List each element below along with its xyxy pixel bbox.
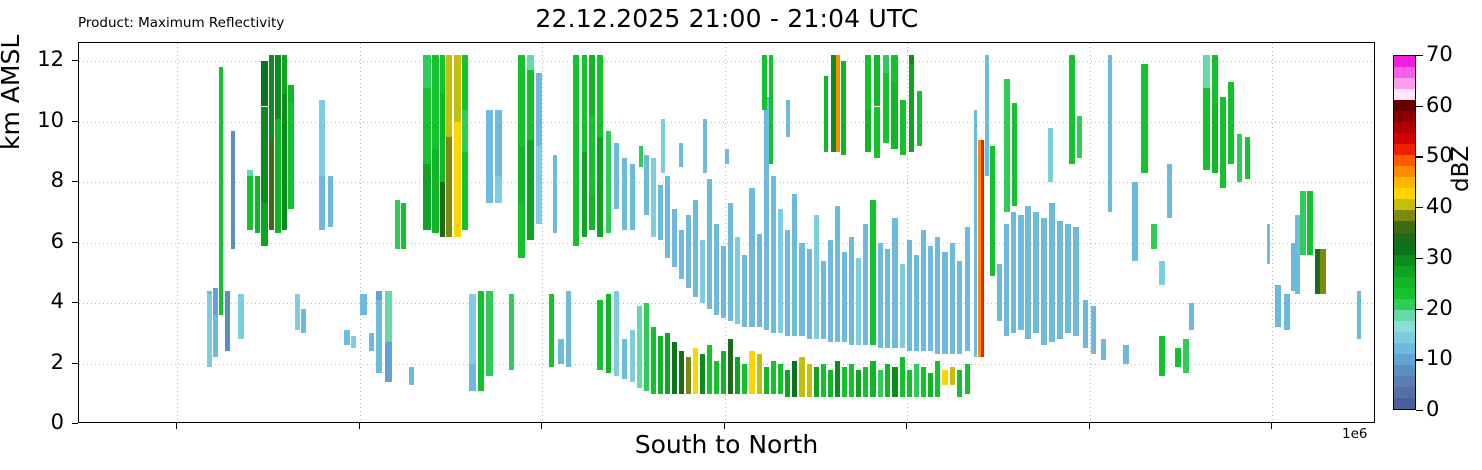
- data-bar: [376, 291, 382, 300]
- data-bar: [238, 294, 244, 339]
- data-bar: [725, 149, 729, 164]
- data-bar: [319, 176, 325, 230]
- data-bar: [679, 351, 684, 393]
- data-bar: [269, 140, 274, 231]
- data-bar: [275, 119, 281, 234]
- data-bar: [255, 176, 260, 233]
- data-bar: [589, 194, 595, 230]
- data-bar: [658, 185, 663, 239]
- data-bar: [295, 294, 300, 330]
- x-axis-tick: [176, 423, 177, 429]
- data-bar: [849, 364, 854, 397]
- colorbar-title: dBZ: [1448, 146, 1474, 192]
- data-bar: [965, 364, 970, 394]
- data-bar: [275, 55, 281, 119]
- data-bar: [942, 370, 948, 385]
- data-bar: [385, 291, 392, 342]
- colorbar-segment: [1394, 398, 1415, 409]
- data-bar: [630, 330, 635, 381]
- data-bar: [900, 264, 905, 349]
- colorbar-segment: [1394, 100, 1415, 111]
- data-bar: [1275, 285, 1281, 327]
- data-bar: [891, 55, 898, 82]
- colorbar-tick-label: 20: [1426, 298, 1453, 319]
- data-bar: [907, 240, 912, 352]
- colorbar-segment: [1394, 188, 1415, 199]
- data-bar: [395, 200, 400, 248]
- data-bar: [1033, 212, 1039, 333]
- data-bar: [821, 364, 826, 397]
- data-bar: [1069, 55, 1075, 164]
- data-bar: [247, 170, 253, 176]
- colorbar-tick: [1416, 359, 1423, 360]
- data-bar: [288, 103, 294, 209]
- gridline-horizontal: [79, 243, 1374, 244]
- data-bar: [950, 243, 955, 355]
- data-bar: [807, 364, 812, 397]
- data-bar: [553, 155, 557, 234]
- data-bar: [1175, 348, 1181, 366]
- data-bar: [957, 261, 962, 355]
- data-bar: [892, 367, 898, 397]
- data-bar: [714, 224, 719, 315]
- y-axis-tick-label: 0: [30, 412, 64, 433]
- data-bar: [454, 55, 461, 122]
- colorbar-segment: [1394, 67, 1415, 78]
- data-bar: [828, 370, 833, 397]
- data-bar: [828, 240, 833, 343]
- data-bar: [462, 152, 468, 231]
- data-bar: [824, 76, 828, 152]
- colorbar-segment: [1394, 320, 1415, 331]
- data-bar: [1212, 103, 1218, 173]
- data-bar: [606, 131, 611, 234]
- x-axis-tick: [1089, 423, 1090, 429]
- data-bar: [261, 107, 268, 204]
- data-bar: [785, 230, 790, 336]
- colorbar-segment: [1394, 309, 1415, 320]
- data-bar: [835, 361, 840, 397]
- data-bar: [509, 294, 514, 370]
- data-bar: [630, 164, 635, 231]
- radar-cross-section-figure: Product: Maximum Reflectivity 22.12.2025…: [0, 0, 1482, 470]
- data-bar: [786, 100, 790, 136]
- colorbar-segment: [1394, 155, 1415, 166]
- data-bar: [454, 122, 461, 237]
- x-axis-tick: [1271, 423, 1272, 429]
- data-bar: [495, 110, 502, 177]
- data-bar: [644, 303, 649, 391]
- data-bar: [735, 237, 740, 325]
- y-axis-title: km AMSL: [0, 35, 25, 150]
- data-bar: [328, 176, 333, 227]
- data-bar: [637, 306, 642, 388]
- data-bar: [486, 173, 493, 203]
- data-bar: [1300, 191, 1306, 255]
- y-axis-tick: [72, 121, 78, 122]
- data-bar: [990, 146, 995, 276]
- data-bar: [856, 258, 861, 346]
- colorbar-segment: [1394, 144, 1415, 155]
- data-bar: [742, 255, 747, 328]
- data-bar: [764, 367, 769, 394]
- data-bar: [928, 246, 933, 352]
- data-bar: [757, 354, 762, 393]
- data-bar: [247, 176, 253, 230]
- data-bar: [1307, 191, 1313, 255]
- data-bar: [462, 110, 468, 152]
- data-bar: [849, 237, 854, 346]
- data-bar: [478, 291, 484, 391]
- data-bar: [440, 182, 445, 236]
- data-bar: [1237, 134, 1242, 182]
- gridline-horizontal: [79, 303, 1374, 304]
- colorbar-segment: [1394, 298, 1415, 309]
- data-bar: [1357, 291, 1361, 339]
- data-bar: [639, 146, 643, 167]
- data-bar: [686, 357, 691, 393]
- data-bar: [1141, 64, 1148, 173]
- data-bar: [1004, 224, 1009, 336]
- data-bar: [446, 137, 452, 237]
- colorbar-segment: [1394, 232, 1415, 243]
- x-axis-tick: [359, 423, 360, 429]
- data-bar: [1284, 294, 1290, 330]
- gridline-vertical: [177, 43, 178, 422]
- y-axis-tick: [72, 60, 78, 61]
- colorbar-segment: [1394, 331, 1415, 342]
- data-bar: [792, 361, 797, 397]
- data-bar: [965, 227, 970, 351]
- data-bar: [261, 203, 268, 245]
- colorbar-segment: [1394, 221, 1415, 232]
- data-bar: [836, 55, 840, 152]
- data-bar: [686, 215, 691, 288]
- colorbar-segment: [1394, 133, 1415, 144]
- x-axis-offset-label: 1e6: [1342, 426, 1367, 442]
- data-bar: [928, 373, 933, 397]
- data-bar: [1159, 261, 1165, 285]
- data-bar: [1025, 206, 1031, 339]
- data-bar: [703, 119, 707, 173]
- data-bar: [883, 55, 889, 73]
- data-bar: [1011, 212, 1016, 333]
- colorbar-tick-label: 30: [1426, 247, 1453, 268]
- data-bar: [885, 364, 890, 397]
- data-bar: [863, 224, 868, 345]
- data-bar: [771, 361, 776, 394]
- y-axis-tick: [72, 363, 78, 364]
- data-bar: [778, 364, 783, 394]
- y-axis-tick-label: 12: [30, 49, 64, 70]
- data-bar: [261, 61, 268, 106]
- data-bar: [814, 367, 819, 397]
- data-bar: [870, 361, 876, 397]
- y-axis-tick: [72, 423, 78, 424]
- data-bar: [282, 55, 287, 94]
- x-axis-title: South to North: [78, 430, 1375, 459]
- data-bar: [440, 94, 445, 182]
- colorbar: [1393, 55, 1416, 410]
- data-bar: [1183, 339, 1189, 372]
- data-bar: [622, 158, 627, 231]
- data-bar: [863, 367, 868, 397]
- data-bar: [835, 206, 840, 342]
- y-axis-tick: [72, 242, 78, 243]
- data-bar: [842, 252, 847, 343]
- data-bar: [440, 55, 445, 94]
- colorbar-gradient: [1393, 55, 1416, 410]
- data-bar: [301, 309, 306, 333]
- data-bar: [1203, 55, 1210, 88]
- data-bar: [376, 300, 382, 373]
- colorbar-tick: [1416, 106, 1423, 107]
- data-bar: [582, 55, 587, 152]
- colorbar-tick-label: 60: [1426, 95, 1453, 116]
- data-bar: [1212, 55, 1218, 103]
- data-bar: [566, 291, 571, 367]
- data-bar: [1091, 306, 1096, 354]
- data-bar: [1228, 82, 1234, 164]
- x-axis-tick: [724, 423, 725, 429]
- colorbar-segment: [1394, 254, 1415, 265]
- data-bar: [883, 73, 889, 143]
- data-bar: [814, 215, 819, 339]
- data-bar: [1049, 203, 1055, 342]
- data-bar: [679, 143, 683, 167]
- data-bar: [423, 55, 431, 88]
- data-bar: [900, 100, 906, 154]
- data-bar: [997, 264, 1002, 321]
- data-bar: [914, 255, 919, 352]
- colorbar-tick: [1416, 309, 1423, 310]
- data-bar: [728, 339, 733, 393]
- data-bar: [644, 155, 649, 215]
- data-bar: [597, 55, 603, 137]
- data-bar: [799, 243, 805, 337]
- data-bar: [700, 240, 705, 304]
- data-bar: [921, 367, 926, 397]
- data-bar: [728, 203, 733, 321]
- y-axis-tick-label: 6: [30, 231, 64, 252]
- data-bar: [707, 179, 712, 309]
- y-axis-tick-label: 10: [30, 110, 64, 131]
- data-bar: [614, 143, 619, 210]
- data-bar: [909, 55, 914, 64]
- data-bar: [771, 176, 776, 333]
- data-bar: [870, 200, 876, 345]
- data-bar: [1320, 249, 1326, 294]
- data-bar: [909, 64, 914, 152]
- data-bar: [369, 333, 374, 351]
- data-bar: [935, 237, 940, 355]
- data-bar: [935, 361, 940, 397]
- data-bar: [785, 370, 790, 397]
- data-bar: [1151, 224, 1157, 248]
- data-bar: [432, 55, 439, 82]
- colorbar-segment: [1394, 111, 1415, 122]
- data-bar: [351, 336, 356, 348]
- data-bar: [1073, 227, 1079, 336]
- y-axis-tick-label: 8: [30, 170, 64, 191]
- data-bar: [874, 107, 880, 158]
- data-bar: [981, 140, 984, 358]
- data-bar: [1041, 218, 1047, 345]
- colorbar-tick-label: 70: [1426, 44, 1453, 65]
- data-bar: [917, 91, 922, 145]
- data-bar: [1159, 336, 1165, 375]
- colorbar-segment: [1394, 287, 1415, 298]
- data-bar: [207, 291, 212, 294]
- data-bar: [842, 367, 847, 397]
- data-bar: [518, 55, 525, 146]
- y-axis-tick-label: 2: [30, 352, 64, 373]
- data-bar: [914, 364, 919, 397]
- data-bar: [1189, 303, 1194, 330]
- data-bar: [665, 176, 670, 258]
- data-bar: [1012, 103, 1017, 206]
- data-bar: [878, 243, 883, 349]
- data-bar: [1220, 97, 1226, 188]
- data-bar: [582, 152, 587, 237]
- data-bar: [865, 55, 871, 109]
- data-bar: [693, 200, 698, 297]
- colorbar-tick-label: 0: [1426, 399, 1439, 420]
- colorbar-segment: [1394, 265, 1415, 276]
- data-bar: [1167, 164, 1172, 218]
- data-bar: [225, 291, 230, 351]
- y-axis-tick: [72, 181, 78, 182]
- data-bar: [672, 342, 677, 393]
- plot-area: [78, 42, 1375, 423]
- data-bar: [1018, 215, 1024, 330]
- colorbar-segment: [1394, 364, 1415, 375]
- data-bar: [1245, 137, 1250, 179]
- data-bar: [707, 345, 712, 393]
- x-axis-tick: [906, 423, 907, 429]
- data-bar: [1057, 221, 1063, 339]
- data-bar: [974, 110, 977, 358]
- data-bar: [589, 116, 595, 195]
- data-bar: [558, 339, 564, 363]
- colorbar-segment: [1394, 78, 1415, 89]
- data-bar: [841, 61, 846, 155]
- data-bar: [269, 55, 274, 140]
- data-bar: [721, 246, 726, 319]
- data-bar: [1132, 182, 1138, 261]
- colorbar-segment: [1394, 199, 1415, 210]
- data-bar: [432, 149, 439, 234]
- colorbar-segment: [1394, 122, 1415, 133]
- data-bar: [679, 230, 684, 278]
- data-bar: [423, 164, 431, 231]
- data-bar: [1083, 300, 1088, 348]
- data-bar: [1267, 224, 1270, 263]
- data-bar: [651, 327, 656, 394]
- colorbar-tick-label: 40: [1426, 196, 1453, 217]
- data-bar: [486, 110, 493, 174]
- colorbar-tick: [1416, 258, 1423, 259]
- data-bar: [942, 252, 948, 355]
- data-bar: [518, 146, 525, 203]
- colorbar-tick: [1416, 156, 1423, 157]
- colorbar-segment: [1394, 387, 1415, 398]
- data-bar: [665, 333, 670, 393]
- data-bar: [597, 300, 603, 370]
- data-bar: [891, 82, 898, 149]
- data-bar: [900, 357, 905, 396]
- data-bar: [742, 364, 747, 394]
- data-bar: [319, 100, 325, 176]
- data-bar: [527, 55, 534, 70]
- data-bar: [344, 330, 350, 345]
- data-bar: [749, 351, 755, 393]
- colorbar-segment: [1394, 276, 1415, 287]
- data-bar: [1203, 88, 1210, 170]
- data-bar: [778, 209, 783, 333]
- data-bar: [385, 342, 392, 381]
- colorbar-tick: [1416, 207, 1423, 208]
- data-bar: [409, 367, 414, 385]
- y-axis-tick: [72, 302, 78, 303]
- data-bar: [907, 370, 912, 397]
- data-bar: [700, 354, 705, 393]
- data-bar: [536, 146, 542, 225]
- colorbar-segment: [1394, 375, 1415, 386]
- data-bar: [219, 67, 223, 315]
- data-bar: [360, 294, 367, 315]
- data-bar: [865, 110, 871, 152]
- data-bar: [573, 55, 579, 161]
- data-bar: [661, 119, 665, 173]
- colorbar-segment: [1394, 89, 1415, 100]
- data-bar: [527, 70, 534, 140]
- data-bar: [799, 357, 805, 396]
- data-bar: [892, 218, 898, 348]
- data-bar: [282, 94, 287, 230]
- data-bar: [527, 140, 534, 240]
- data-bar: [672, 209, 677, 266]
- data-bar: [885, 249, 890, 349]
- data-bar: [878, 370, 883, 397]
- data-bar: [288, 85, 294, 103]
- data-bar: [213, 315, 218, 357]
- gridline-vertical: [360, 43, 361, 422]
- data-bar: [495, 176, 502, 203]
- data-bar: [792, 194, 797, 336]
- colorbar-segment: [1394, 56, 1415, 67]
- data-bar: [207, 294, 212, 367]
- data-bar: [762, 55, 767, 109]
- data-bar: [1123, 345, 1129, 363]
- data-bar: [213, 288, 218, 315]
- page-title: 22.12.2025 21:00 - 21:04 UTC: [78, 4, 1376, 33]
- data-bar: [614, 291, 619, 376]
- data-bar: [1065, 224, 1071, 333]
- data-bar: [735, 357, 740, 393]
- data-bar: [957, 370, 962, 397]
- colorbar-segment: [1394, 210, 1415, 221]
- colorbar-tick: [1416, 55, 1423, 56]
- data-bar: [856, 370, 861, 397]
- data-bar: [446, 55, 452, 137]
- gridline-vertical: [1090, 43, 1091, 422]
- data-bar: [432, 82, 439, 149]
- data-bar: [1077, 116, 1082, 158]
- data-bar: [462, 55, 468, 109]
- data-bar: [401, 203, 406, 248]
- data-bar: [423, 88, 431, 164]
